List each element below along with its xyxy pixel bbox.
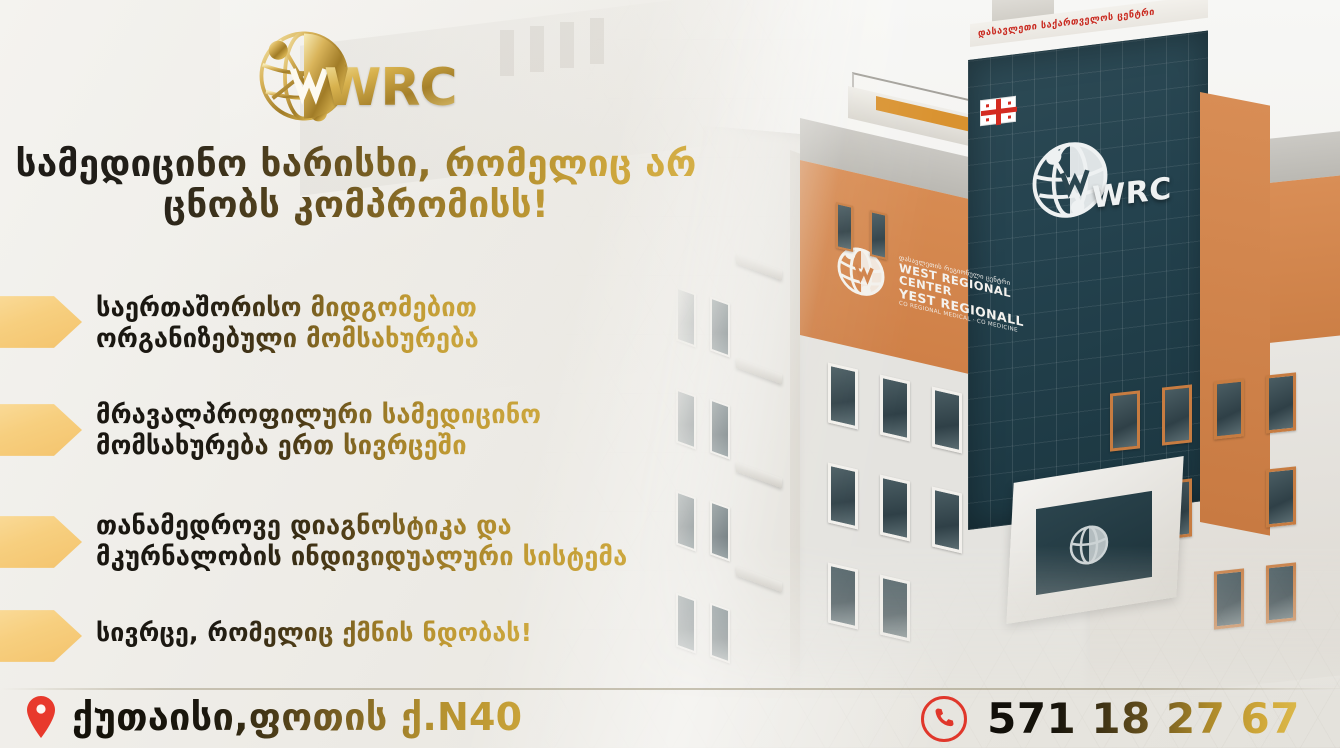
list-item-label: მრავალპროფილური სამედიცინო მომსახურება ე… bbox=[96, 400, 541, 462]
list-item-line2: ორგანიზებული მომსახურება bbox=[96, 324, 479, 355]
window bbox=[1266, 372, 1296, 433]
window bbox=[880, 575, 910, 642]
phone-number: 571 18 27 67 bbox=[987, 694, 1300, 743]
window bbox=[880, 375, 910, 442]
headline-line-1: სამედიცინო ხარისხი, რომელიც არ bbox=[16, 142, 697, 185]
feature-list: საერთაშორისო მიდგომებით ორგანიზებული მომ… bbox=[0, 272, 800, 668]
list-item-line1: თანამედროვე დიაგნოსტიკა და bbox=[96, 511, 627, 542]
brand-logo: WRC bbox=[248, 16, 448, 136]
banner-canvas: დასავლეთი საქართველოს ცენტრი bbox=[0, 0, 1340, 748]
list-item: მრავალპროფილური სამედიცინო მომსახურება ე… bbox=[0, 376, 800, 486]
list-item: საერთაშორისო მიდგომებით ორგანიზებული მომ… bbox=[0, 272, 800, 376]
address-block: ქუთაისი,ფოთის ქ.N40 bbox=[26, 695, 522, 739]
phone-block[interactable]: 571 18 27 67 bbox=[921, 694, 1300, 743]
canopy-wrc-logo-icon bbox=[1064, 516, 1114, 574]
list-item-label: სივრცე, რომელიც ქმნის ნდობას! bbox=[96, 618, 532, 649]
window bbox=[1214, 568, 1244, 629]
footer-divider bbox=[0, 688, 1340, 690]
window bbox=[828, 563, 858, 630]
list-item-label: საერთაშორისო მიდგომებით ორგანიზებული მომ… bbox=[96, 293, 479, 355]
list-item: თანამედროვე დიაგნოსტიკა და მკურნალობის ი… bbox=[0, 486, 800, 598]
brand-wordmark: WRC bbox=[324, 58, 457, 118]
window bbox=[1162, 384, 1192, 445]
list-item-line1: სივრცე, რომელიც ქმნის ნდობას! bbox=[96, 618, 532, 649]
chevron-right-icon bbox=[0, 286, 82, 358]
window bbox=[932, 387, 962, 454]
chevron-right-icon bbox=[0, 600, 82, 672]
window bbox=[932, 487, 962, 554]
window bbox=[1214, 378, 1244, 439]
list-item: სივრცე, რომელიც ქმნის ნდობას! bbox=[0, 598, 800, 668]
list-item-label: თანამედროვე დიაგნოსტიკა და მკურნალობის ი… bbox=[96, 511, 627, 573]
window bbox=[828, 463, 858, 530]
window bbox=[870, 210, 887, 260]
window bbox=[1266, 562, 1296, 623]
far-right-orange-wall bbox=[1200, 92, 1270, 536]
list-item-line1: მრავალპროფილური სამედიცინო bbox=[96, 400, 541, 431]
page-title: სამედიცინო ხარისხი, რომელიც არ ცნობს კომ… bbox=[0, 143, 712, 226]
phone-icon bbox=[921, 696, 967, 742]
list-item-line2: მკურნალობის ინდივიდუალური სისტემა bbox=[96, 542, 627, 573]
window bbox=[880, 475, 910, 542]
window bbox=[828, 363, 858, 430]
window bbox=[1110, 390, 1140, 451]
chevron-right-icon bbox=[0, 506, 82, 578]
map-pin-icon bbox=[26, 695, 56, 739]
address-text: ქუთაისი,ფოთის ქ.N40 bbox=[72, 695, 522, 739]
chevron-right-icon bbox=[0, 394, 82, 466]
window bbox=[1266, 466, 1296, 527]
list-item-line1: საერთაშორისო მიდგომებით bbox=[96, 293, 479, 324]
georgian-flag-icon bbox=[980, 96, 1016, 126]
window bbox=[836, 202, 853, 252]
headline-line-2: ცნობს კომპრომისს! bbox=[0, 184, 712, 225]
list-item-line2: მომსახურება ერთ სივრცეში bbox=[96, 431, 541, 462]
